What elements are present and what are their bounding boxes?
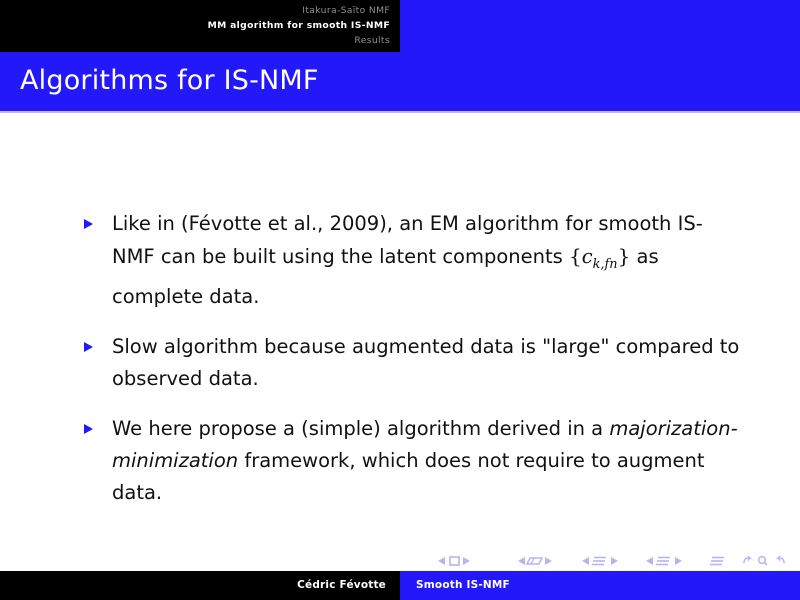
frame-nav-icons[interactable] bbox=[516, 554, 566, 568]
subsection-nav-icons[interactable] bbox=[580, 554, 630, 568]
slide-nav-icons[interactable] bbox=[434, 554, 502, 568]
presentation-slide: Itakura-Saïto NMF MM algorithm for smoot… bbox=[0, 0, 800, 600]
headline-section-list: Itakura-Saïto NMF MM algorithm for smoot… bbox=[0, 0, 400, 52]
search-icon bbox=[759, 556, 767, 564]
bullet-text-2: Slow algorithm because augmented data is… bbox=[112, 335, 739, 390]
footline: Cédric Févotte Smooth IS-NMF bbox=[0, 571, 800, 600]
frame-title: Algorithms for IS-NMF bbox=[20, 65, 319, 97]
bullet-triangle-icon bbox=[84, 219, 93, 229]
list-item: Slow algorithm because augmented data is… bbox=[84, 331, 744, 395]
history-group[interactable] bbox=[740, 550, 788, 569]
section-prev-icon bbox=[646, 557, 653, 565]
slide-body: Like in (Févotte et al., 2009), an EM al… bbox=[0, 112, 800, 547]
bullet-triangle-icon bbox=[84, 342, 93, 352]
bullet-list: Like in (Févotte et al., 2009), an EM al… bbox=[84, 208, 744, 509]
bullet-text-1: Like in (Févotte et al., 2009), an EM al… bbox=[112, 212, 703, 308]
frame-title-bar: Algorithms for IS-NMF bbox=[0, 52, 800, 112]
section-icon bbox=[656, 557, 670, 564]
slide-navigation-group[interactable] bbox=[434, 550, 502, 569]
beamer-navigation-symbols[interactable] bbox=[0, 549, 800, 571]
history-icons[interactable] bbox=[740, 554, 788, 568]
document-group[interactable] bbox=[708, 550, 726, 569]
frame-prev-icon bbox=[518, 557, 525, 565]
nav-section-mm-algorithm-for-smooth-is-nmf[interactable]: MM algorithm for smooth IS-NMF bbox=[0, 18, 390, 33]
slide-next-icon bbox=[463, 557, 470, 565]
headline-bar: Itakura-Saïto NMF MM algorithm for smoot… bbox=[0, 0, 800, 52]
bullet-triangle-icon bbox=[84, 424, 93, 434]
nav-section-results[interactable]: Results bbox=[0, 33, 390, 48]
list-item: Like in (Févotte et al., 2009), an EM al… bbox=[84, 208, 744, 313]
frame-next-icon bbox=[545, 557, 552, 565]
slide-box-icon bbox=[450, 557, 459, 565]
doc-icon[interactable] bbox=[708, 554, 726, 568]
slide-prev-icon bbox=[438, 557, 445, 565]
subsection-icon bbox=[592, 557, 606, 564]
section-navigation-group[interactable] bbox=[644, 550, 694, 569]
section-next-icon bbox=[675, 557, 682, 565]
subsection-navigation-group[interactable] bbox=[580, 550, 630, 569]
bullet-text-3: We here propose a (simple) algorithm der… bbox=[112, 417, 738, 504]
frame-navigation-group[interactable] bbox=[516, 550, 566, 569]
footer-author: Cédric Févotte bbox=[0, 571, 400, 600]
subsection-next-icon bbox=[611, 557, 618, 565]
nav-section-itakura-saito-nmf[interactable]: Itakura-Saïto NMF bbox=[0, 3, 390, 18]
list-item: We here propose a (simple) algorithm der… bbox=[84, 413, 744, 509]
section-nav-icons[interactable] bbox=[644, 554, 694, 568]
frame-icon bbox=[527, 558, 542, 564]
footer-short-title: Smooth IS-NMF bbox=[400, 571, 800, 600]
inline-math-latent-components: {ck,fn} bbox=[569, 245, 630, 268]
forward-icon bbox=[778, 556, 784, 563]
back-icon bbox=[744, 556, 750, 563]
subsection-prev-icon bbox=[582, 557, 589, 565]
